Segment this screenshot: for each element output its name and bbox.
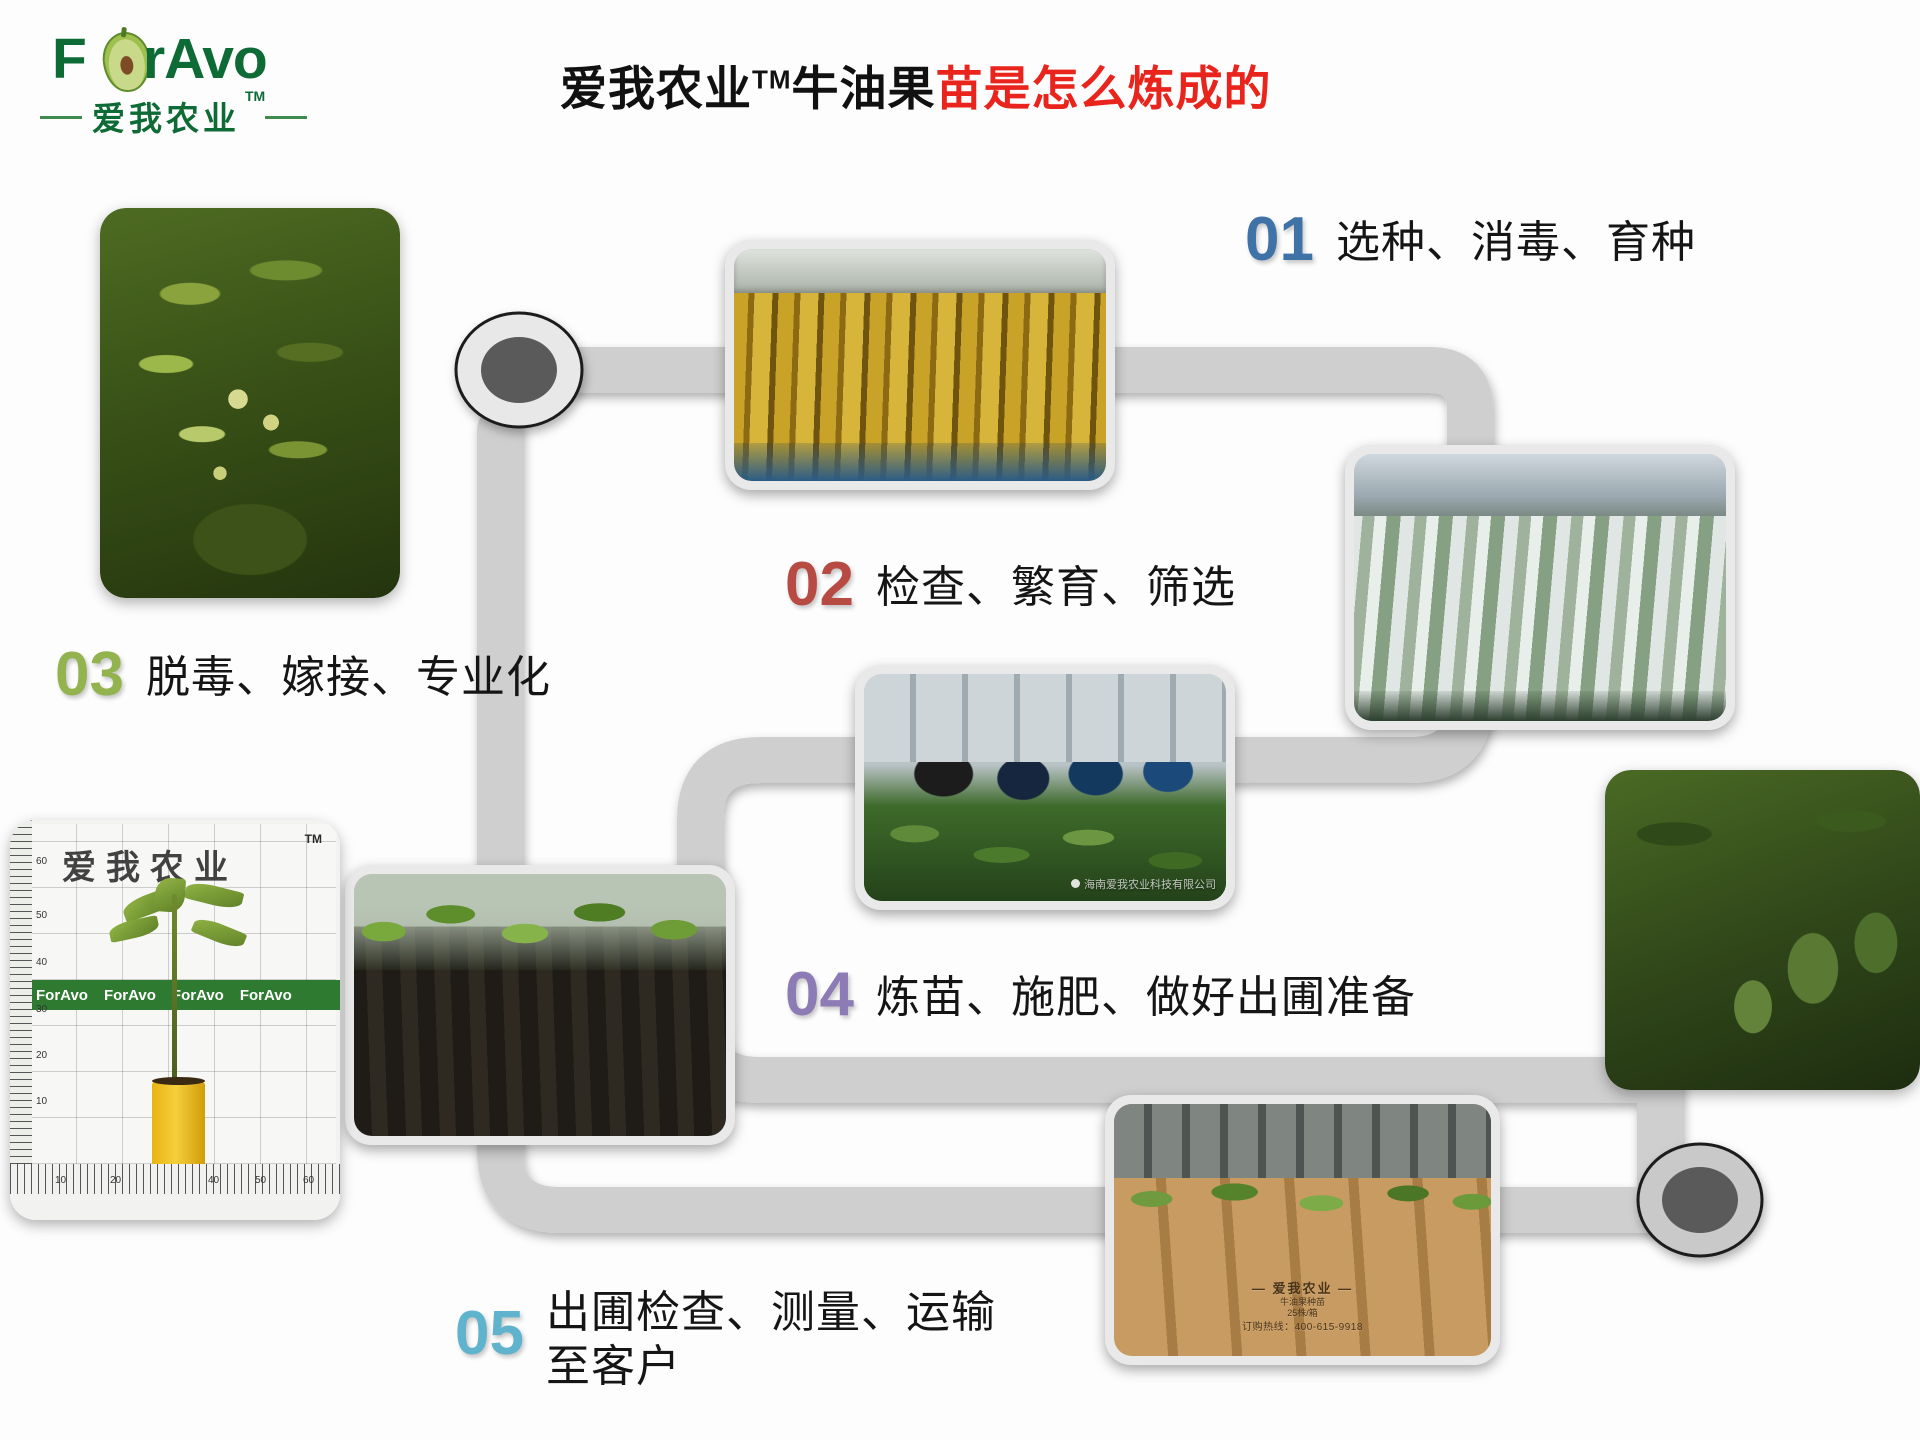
photo-watermark: 海南爱我农业科技有限公司 <box>1071 876 1216 892</box>
box-label-sub: 牛油果种苗 <box>1242 1297 1363 1308</box>
step-05-line1: 出圃检查、测量、运输 <box>546 1288 996 1337</box>
step-05-number: 05 <box>455 1304 524 1365</box>
watermark-dot-icon <box>1071 879 1080 888</box>
flow-end-node <box>1638 1144 1762 1256</box>
measure-htick: 60 <box>303 1175 314 1186</box>
measure-htick: 20 <box>110 1175 121 1186</box>
step-01: 01 选种、消毒、育种 <box>1245 210 1696 271</box>
band-text-1: ForAvo <box>98 987 156 1004</box>
measure-watermark-chinese: 爱我农业 <box>62 840 238 889</box>
photo-staff-inspection-image: 海南爱我农业科技有限公司 <box>864 674 1226 901</box>
step-04-number: 04 <box>785 965 854 1026</box>
step-04: 04 炼苗、施肥、做好出圃准备 <box>785 965 1416 1026</box>
photo-shipping-boxes-image: — 爱我农业 — 牛油果种苗 25株/箱 订购热线：400-615-9918 <box>1114 1104 1491 1356</box>
measure-vtick: 20 <box>36 1050 47 1061</box>
measure-vtick: 10 <box>36 1096 47 1107</box>
step-03: 03 脱毒、嫁接、专业化 <box>55 645 551 706</box>
step-04-text: 炼苗、施肥、做好出圃准备 <box>876 965 1416 1025</box>
measure-stem <box>172 894 177 1084</box>
measure-foravo-band: ForAvo ForAvo ForAvo ForAvo <box>30 980 340 1010</box>
step-02-text: 检查、繁育、筛选 <box>876 555 1236 615</box>
photo-measurement-board: 爱我农业 TM ForAvo ForAvo ForAvo ForAvo 60 5… <box>10 820 340 1220</box>
photo-grafted-bagged-plants-image <box>1354 454 1726 721</box>
measure-vtick: 40 <box>36 957 47 968</box>
measure-htick: 10 <box>55 1175 66 1186</box>
measure-htick: 50 <box>255 1175 266 1186</box>
step-05: 05 出圃检查、测量、运输至客户 <box>455 1280 996 1393</box>
photo-flowering-branch-image <box>100 208 400 598</box>
step-03-number: 03 <box>55 645 124 706</box>
flow-start-node <box>456 313 582 427</box>
photo-grafted-bagged-plants <box>1345 445 1735 730</box>
measure-pot <box>152 1082 205 1174</box>
photo-potted-seedlings <box>345 865 735 1145</box>
step-01-number: 01 <box>1245 210 1314 271</box>
step-03-text: 脱毒、嫁接、专业化 <box>146 645 551 705</box>
measure-vertical-ruler <box>10 820 32 1164</box>
box-label-tel: 订购热线：400-615-9918 <box>1242 1322 1363 1335</box>
band-text-3: ForAvo <box>234 987 292 1004</box>
step-02-number: 02 <box>785 555 854 616</box>
step-05-line2: 至客户 <box>546 1342 681 1391</box>
measure-htick: 40 <box>208 1175 219 1186</box>
step-02: 02 检查、繁育、筛选 <box>785 555 1236 616</box>
measure-vtick: 50 <box>36 910 47 921</box>
box-label-spec: 25株/箱 <box>1242 1308 1363 1319</box>
box-printed-label: — 爱我农业 — 牛油果种苗 25株/箱 订购热线：400-615-9918 <box>1242 1281 1363 1334</box>
step-01-text: 选种、消毒、育种 <box>1336 210 1696 270</box>
photo-seed-trays <box>725 240 1115 490</box>
box-label-brand: — 爱我农业 — <box>1242 1281 1363 1297</box>
photo-avocado-fruit-image <box>1605 770 1920 1090</box>
photo-staff-inspection: 海南爱我农业科技有限公司 <box>855 665 1235 910</box>
photo-flowering-branch <box>100 208 400 598</box>
photo-seed-trays-image <box>734 249 1106 481</box>
step-05-text: 出圃检查、测量、运输至客户 <box>546 1280 996 1393</box>
photo-potted-seedlings-image <box>354 874 726 1136</box>
measure-watermark-tm: TM <box>305 832 322 846</box>
photo-shipping-boxes: — 爱我农业 — 牛油果种苗 25株/箱 订购热线：400-615-9918 <box>1105 1095 1500 1365</box>
measure-vtick: 30 <box>36 1004 47 1015</box>
photo-avocado-fruit <box>1605 770 1920 1090</box>
band-text-0: ForAvo <box>30 987 88 1004</box>
photo-measurement-board-image: 爱我农业 TM ForAvo ForAvo ForAvo ForAvo 60 5… <box>10 820 340 1220</box>
photo-watermark-text: 海南爱我农业科技有限公司 <box>1084 879 1216 891</box>
measure-vtick: 60 <box>36 856 47 867</box>
